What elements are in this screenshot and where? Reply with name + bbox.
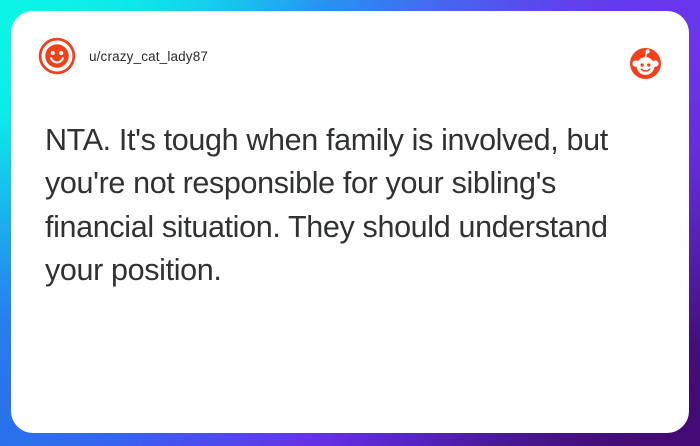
smiley-face-avatar-icon[interactable] bbox=[38, 37, 76, 75]
comment-header: u/crazy_cat_lady87 bbox=[11, 11, 689, 75]
comment-body: NTA. It's tough when family is involved,… bbox=[11, 75, 689, 292]
username-label[interactable]: u/crazy_cat_lady87 bbox=[89, 49, 208, 64]
reddit-snoo-icon[interactable] bbox=[630, 48, 661, 79]
comment-card: u/crazy_cat_lady87 NTA. It's tough when … bbox=[11, 11, 689, 433]
comment-text: NTA. It's tough when family is involved,… bbox=[45, 119, 659, 292]
